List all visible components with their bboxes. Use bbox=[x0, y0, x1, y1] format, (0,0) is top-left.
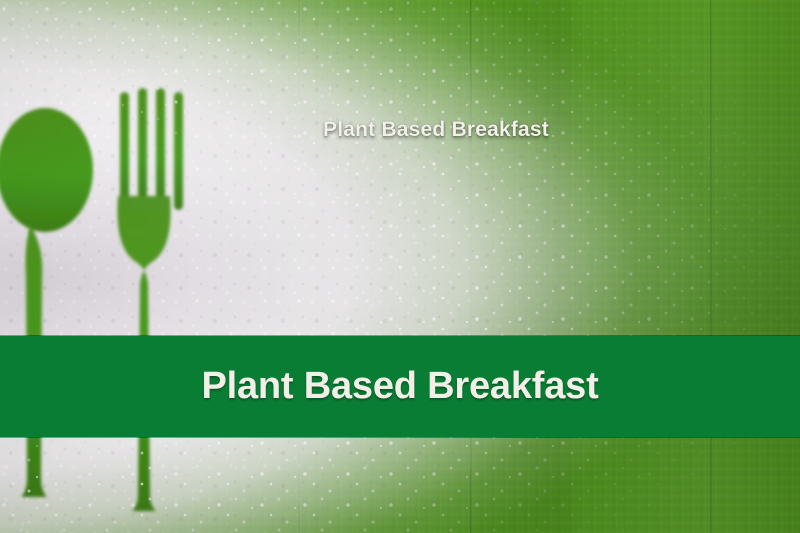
poster-vignette bbox=[0, 0, 800, 533]
poster-canvas: Plant Based Breakfast Plant Based Breakf… bbox=[0, 0, 800, 533]
banner-heading: Plant Based Breakfast bbox=[201, 365, 598, 408]
title-banner: Plant Based Breakfast bbox=[0, 336, 800, 437]
top-heading: Plant Based Breakfast bbox=[0, 118, 800, 142]
